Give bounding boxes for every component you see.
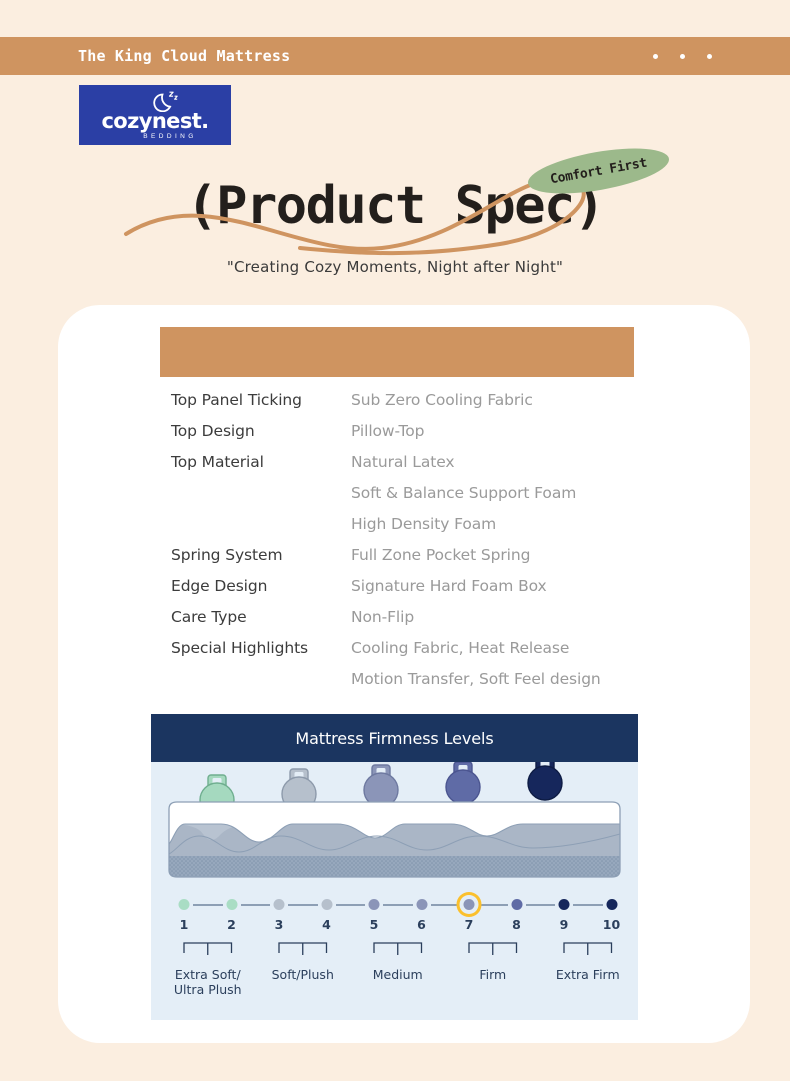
firmness-level-dot-8[interactable]	[511, 899, 522, 910]
brand-wordmark: cozynest.	[101, 111, 208, 132]
firmness-panel-body: 12345678910 Extra Soft/Ultra PlushSoft/P…	[151, 762, 638, 1020]
spec-row: Soft & Balance Support Foam	[171, 484, 661, 515]
spec-row: Care TypeNon-Flip	[171, 608, 661, 639]
spec-row-value: Sub Zero Cooling Fabric	[351, 391, 533, 409]
product-spec-page: The King Cloud Mattress cozynest. BEDDIN…	[0, 0, 790, 1081]
brand-tagline: "Creating Cozy Moments, Night after Nigh…	[0, 258, 790, 276]
headline-area: (Product Spec)	[0, 170, 790, 250]
spec-row: Spring SystemFull Zone Pocket Spring	[171, 546, 661, 577]
firmness-level-number: 7	[449, 917, 489, 932]
firmness-level-dot-2[interactable]	[226, 899, 237, 910]
firmness-scale-connector	[288, 904, 318, 906]
firmness-level-dot-7[interactable]	[464, 899, 475, 910]
firmness-level-dot-3[interactable]	[274, 899, 285, 910]
firmness-group-label-line: Extra Firm	[556, 967, 620, 982]
firmness-group-label-line: Medium	[373, 967, 423, 982]
firmness-level-dot-1[interactable]	[179, 899, 190, 910]
spec-row-value: High Density Foam	[351, 515, 496, 533]
firmness-group-bracket	[279, 943, 327, 955]
spec-card: Top Panel TickingSub Zero Cooling Fabric…	[58, 305, 750, 1043]
firmness-level-dot-10[interactable]	[606, 899, 617, 910]
firmness-level-dot-9[interactable]	[559, 899, 570, 910]
spec-row-value: Cooling Fabric, Heat Release	[351, 639, 569, 657]
spec-row-label: Spring System	[171, 546, 351, 564]
firmness-level-number: 6	[402, 917, 442, 932]
spec-row-value: Non-Flip	[351, 608, 414, 626]
firmness-group-bracket	[469, 943, 517, 955]
spec-row: Top DesignPillow-Top	[171, 422, 661, 453]
weight-icon-4	[446, 762, 480, 804]
spec-row: Edge DesignSignature Hard Foam Box	[171, 577, 661, 608]
mattress-layers	[169, 802, 620, 877]
firmness-group-bracket	[184, 943, 232, 955]
spec-row: Top Panel TickingSub Zero Cooling Fabric	[171, 391, 661, 422]
comfort-first-badge-label: Comfort First	[549, 155, 648, 187]
firmness-level-dot-5[interactable]	[369, 899, 380, 910]
top-bar-dots	[653, 54, 712, 59]
weight-icon-3	[364, 765, 398, 807]
firmness-scale-connector	[193, 904, 223, 906]
firmness-level-number: 8	[497, 917, 537, 932]
top-bar-title: The King Cloud Mattress	[78, 47, 290, 65]
spec-row-value: Full Zone Pocket Spring	[351, 546, 530, 564]
firmness-group-bracket	[564, 943, 612, 955]
spec-row-label: Top Panel Ticking	[171, 391, 351, 409]
firmness-group-bracket	[374, 943, 422, 955]
brand-subtitle: BEDDING	[143, 133, 196, 140]
spec-row-label: Care Type	[171, 608, 351, 626]
firmness-group-label-line: Ultra Plush	[174, 982, 242, 997]
firmness-panel-title: Mattress Firmness Levels	[151, 714, 638, 762]
brand-logo[interactable]: cozynest. BEDDING	[79, 85, 231, 145]
firmness-group-label-line: Extra Soft/	[175, 967, 241, 982]
spec-row: Top MaterialNatural Latex	[171, 453, 661, 484]
spec-table-header-bar	[160, 327, 634, 377]
crescent-moon-zzz-icon	[146, 90, 180, 112]
firmness-level-number: 9	[544, 917, 584, 932]
spec-row-label: Special Highlights	[171, 639, 351, 657]
spec-row-value: Signature Hard Foam Box	[351, 577, 547, 595]
bullet-dot-icon	[680, 54, 685, 59]
bullet-dot-icon	[707, 54, 712, 59]
spec-row-label: Edge Design	[171, 577, 351, 595]
page-title: (Product Spec)	[0, 170, 790, 242]
bullet-dot-icon	[653, 54, 658, 59]
firmness-scale-connector	[478, 904, 508, 906]
spec-row: Motion Transfer, Soft Feel design	[171, 670, 661, 701]
firmness-level-number: 5	[354, 917, 394, 932]
firmness-level-number: 1	[164, 917, 204, 932]
firmness-group-label: Extra Firm	[523, 967, 638, 982]
firmness-scale-connector	[241, 904, 271, 906]
firmness-scale-connector	[336, 904, 366, 906]
spec-row-value: Natural Latex	[351, 453, 454, 471]
spec-row: High Density Foam	[171, 515, 661, 546]
mattress-illustration	[151, 762, 638, 897]
spec-row-label: Top Material	[171, 453, 351, 471]
firmness-scale-connector	[383, 904, 413, 906]
firmness-scale-track: 12345678910	[151, 895, 638, 919]
spec-row-value: Motion Transfer, Soft Feel design	[351, 670, 601, 688]
firmness-group-label-line: Firm	[479, 967, 506, 982]
spec-row-label: Top Design	[171, 422, 351, 440]
firmness-scale-connector	[573, 904, 603, 906]
firmness-level-number: 10	[592, 917, 632, 932]
firmness-scale: 12345678910 Extra Soft/Ultra PlushSoft/P…	[151, 895, 638, 1020]
spec-row: Special HighlightsCooling Fabric, Heat R…	[171, 639, 661, 670]
spec-row-value: Soft & Balance Support Foam	[351, 484, 576, 502]
firmness-level-dot-4[interactable]	[321, 899, 332, 910]
firmness-scale-connector	[526, 904, 556, 906]
firmness-level-number: 4	[307, 917, 347, 932]
firmness-level-dot-6[interactable]	[416, 899, 427, 910]
firmness-level-number: 2	[212, 917, 252, 932]
firmness-level-number: 3	[259, 917, 299, 932]
firmness-scale-connector	[431, 904, 461, 906]
top-bar: The King Cloud Mattress	[0, 37, 790, 75]
weight-icon-5	[528, 762, 562, 800]
spec-table: Top Panel TickingSub Zero Cooling Fabric…	[171, 391, 661, 701]
firmness-group-brackets	[151, 939, 638, 965]
firmness-group-label-line: Soft/Plush	[272, 967, 334, 982]
spec-row-value: Pillow-Top	[351, 422, 424, 440]
firmness-panel: Mattress Firmness Levels	[151, 714, 638, 1020]
